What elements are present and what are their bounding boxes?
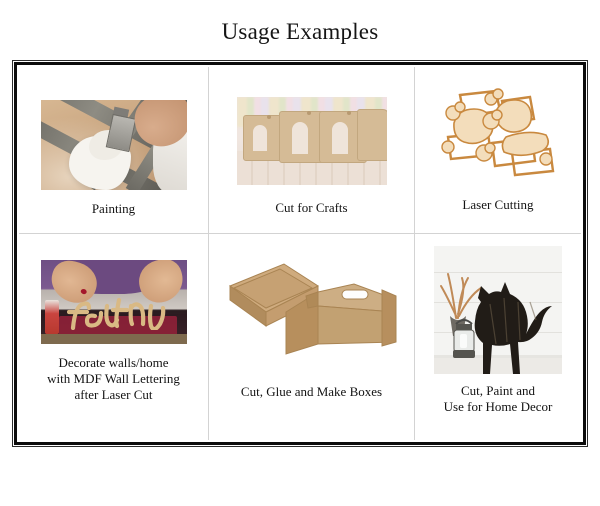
painting-photo: Hand holding a paint brush applying whit… bbox=[41, 100, 187, 190]
cutout-knob bbox=[267, 115, 271, 119]
glue-bottle bbox=[45, 300, 59, 334]
mdf-cutout-handle bbox=[287, 117, 313, 159]
cat-silhouette-and-props bbox=[434, 246, 562, 374]
home-decor-photo: Black painted wooden arched back cat wit… bbox=[434, 246, 562, 374]
laser-cutting-photo: Pile of laser cut wooden birds, flowers … bbox=[434, 81, 562, 185]
cut-for-crafts-photo: MDF teapot and watering can shapes cut f… bbox=[237, 97, 387, 185]
laser-cut-pieces-illustration bbox=[434, 81, 562, 185]
table-cell-laser-cutting: Pile of laser cut wooden birds, flowers … bbox=[415, 67, 581, 234]
table-cell-cut-for-crafts: MDF teapot and watering can shapes cut f… bbox=[209, 67, 415, 234]
mdf-cutout-handle bbox=[248, 120, 272, 156]
table-cell-painting: Hand holding a paint brush applying whit… bbox=[19, 67, 209, 234]
cutout-knob bbox=[347, 111, 351, 115]
wall-lettering-photo: Hands lifting a cursive wooden word fait… bbox=[41, 260, 187, 344]
page-title: Usage Examples bbox=[0, 19, 600, 45]
cutout-knob bbox=[307, 111, 311, 115]
table-cell-mdf-wall-lettering: Hands lifting a cursive wooden word fait… bbox=[19, 234, 209, 440]
cell-caption-laser-cutting: Laser Cutting bbox=[462, 197, 533, 213]
table-grid: Hand holding a paint brush applying whit… bbox=[19, 67, 581, 440]
cell-caption-cut-for-crafts: Cut for Crafts bbox=[275, 200, 347, 216]
usage-examples-page: Usage Examples Hand holding a paint bbox=[0, 0, 600, 506]
mdf-cutout-handle bbox=[327, 117, 353, 159]
make-boxes-photo: A closed flat MDF box and an open MDF ca… bbox=[222, 250, 402, 362]
mdf-cutout-shape bbox=[357, 109, 387, 161]
cell-caption-home-decor: Cut, Paint and Use for Home Decor bbox=[444, 383, 553, 415]
table-edge bbox=[41, 334, 187, 344]
table-cell-make-boxes: A closed flat MDF box and an open MDF ca… bbox=[209, 234, 415, 440]
table-cell-home-decor: Black painted wooden arched back cat wit… bbox=[415, 234, 581, 440]
cell-caption-mdf-wall-lettering: Decorate walls/home with MDF Wall Letter… bbox=[47, 355, 180, 403]
cell-caption-painting: Painting bbox=[92, 201, 135, 217]
cell-caption-make-boxes: Cut, Glue and Make Boxes bbox=[241, 384, 382, 400]
usage-examples-table: Hand holding a paint brush applying whit… bbox=[14, 62, 586, 445]
mdf-boxes-illustration bbox=[222, 250, 402, 362]
